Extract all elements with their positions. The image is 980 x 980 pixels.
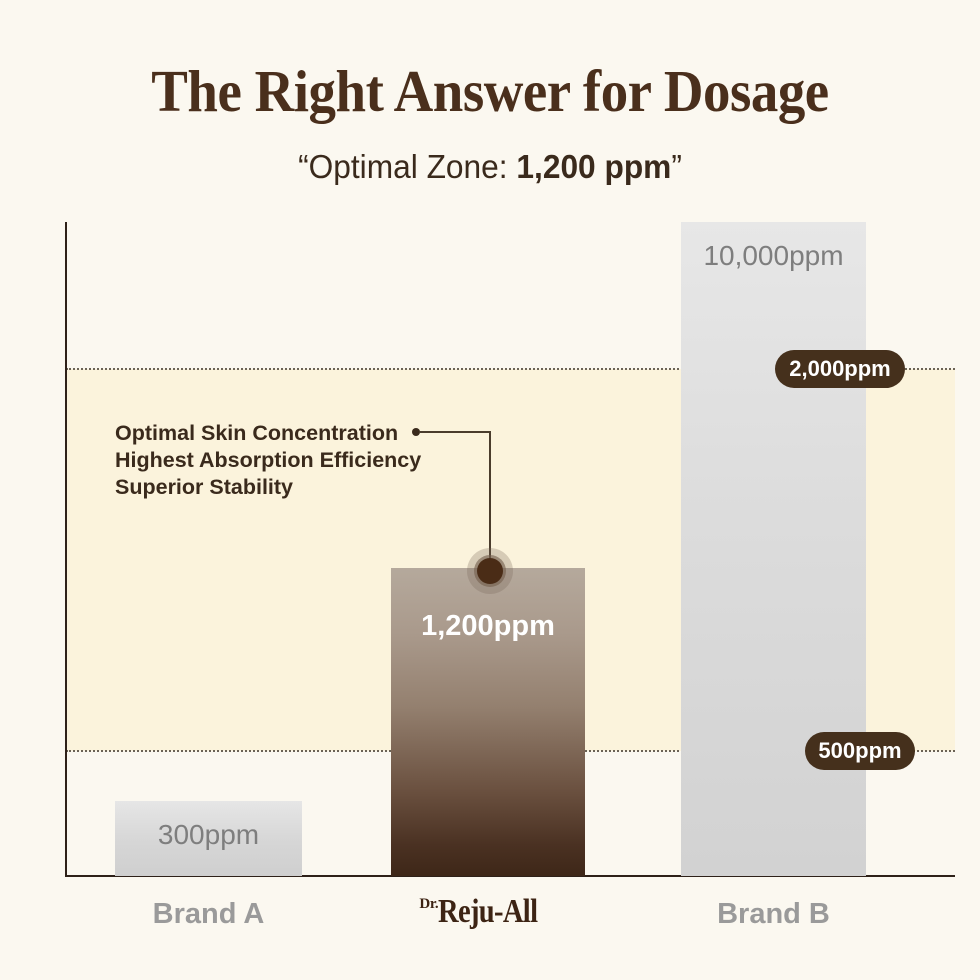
brand-logo-prefix: Dr.	[419, 896, 438, 912]
threshold-badge-lower: 500ppm	[805, 732, 915, 770]
subtitle-suffix: ”	[671, 148, 682, 185]
annotation-line-1: Optimal Skin Concentration	[115, 420, 421, 447]
bar-value-dr-reju-all: 1,200ppm	[391, 610, 585, 643]
page-title: The Right Answer for Dosage	[34, 57, 945, 126]
bar-brand-a: 300ppm	[115, 801, 302, 876]
subtitle: “Optimal Zone: 1,200 ppm”	[20, 148, 961, 186]
marker-core	[477, 558, 503, 584]
subtitle-value: 1,200 ppm	[516, 148, 671, 185]
category-label-brand-a: Brand A	[115, 898, 302, 931]
infographic-chart: The Right Answer for Dosage “Optimal Zon…	[0, 0, 980, 980]
bar-dr-reju-all: 1,200ppm	[391, 568, 585, 876]
subtitle-prefix: “Optimal Zone:	[298, 148, 516, 185]
bar-value-brand-a: 300ppm	[115, 819, 302, 851]
brand-logo-name: Reju-All	[438, 893, 537, 931]
bar-brand-b: 10,000ppm	[681, 222, 866, 876]
brand-logo-dr-reju-all: Dr.Reju-All	[391, 893, 585, 931]
annotation-line-2: Highest Absorption Efficiency	[115, 447, 421, 474]
annotation-text: Optimal Skin Concentration Highest Absor…	[115, 420, 421, 501]
bar-value-brand-b: 10,000ppm	[681, 240, 866, 272]
annotation-leader-horizontal	[419, 431, 491, 433]
y-axis-line	[65, 222, 67, 876]
threshold-badge-upper: 2,000ppm	[775, 350, 905, 388]
annotation-line-3: Superior Stability	[115, 474, 421, 501]
optimal-point-marker-icon	[467, 548, 513, 594]
category-label-brand-b: Brand B	[681, 898, 866, 931]
